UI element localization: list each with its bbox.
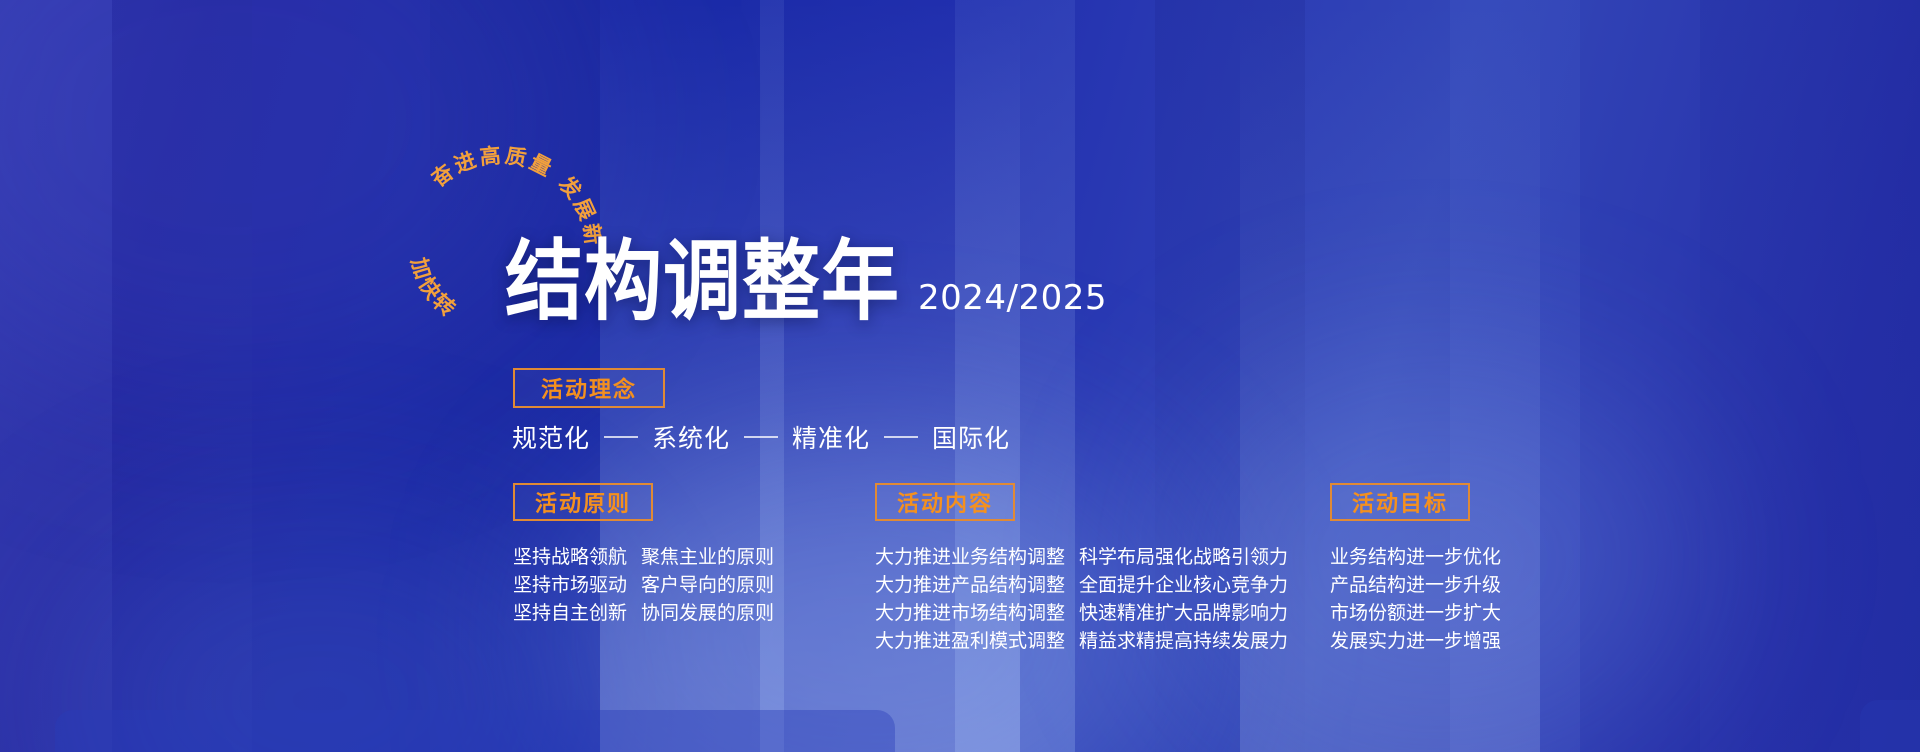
concept-keyword-list: 规范化 系统化 精准化 国际化	[512, 419, 1010, 455]
line-segment-b: 客户导向的原则	[641, 571, 774, 599]
concept-keyword: 国际化	[932, 419, 1010, 455]
banner-content: 奋进高质量 发展新征程 加快转型 增动能 结构调整年 2024/2025 活动理…	[0, 0, 1920, 752]
line-segment-b: 科学布局强化战略引领力	[1079, 543, 1288, 571]
line-segment-a: 市场份额进一步扩大	[1330, 599, 1501, 627]
concept-keyword: 系统化	[652, 419, 730, 455]
list-item: 市场份额进一步扩大	[1330, 599, 1501, 627]
list-item: 大力推进盈利模式调整 精益求精提高持续发展力	[875, 627, 1288, 655]
column-activity-principles: 活动原则 坚持战略领航 聚焦主业的原则 坚持市场驱动 客户导向的原则 坚持自主创…	[513, 483, 774, 627]
concept-separator-dash	[884, 436, 918, 438]
list-item: 坚持自主创新 协同发展的原则	[513, 599, 774, 627]
list-item: 业务结构进一步优化	[1330, 543, 1501, 571]
principles-line-list: 坚持战略领航 聚焦主业的原则 坚持市场驱动 客户导向的原则 坚持自主创新 协同发…	[513, 543, 774, 627]
line-segment-a: 坚持市场驱动	[513, 571, 627, 599]
line-segment-a: 坚持自主创新	[513, 599, 627, 627]
seal-text-bottom: 加快转型 增动能	[388, 123, 462, 323]
list-item: 发展实力进一步增强	[1330, 627, 1501, 655]
list-item: 大力推进业务结构调整 科学布局强化战略引领力	[875, 543, 1288, 571]
badge-activity-principles[interactable]: 活动原则	[513, 483, 653, 521]
list-item: 坚持市场驱动 客户导向的原则	[513, 571, 774, 599]
concept-keyword: 规范化	[512, 419, 590, 455]
badge-activity-content[interactable]: 活动内容	[875, 483, 1015, 521]
concept-separator-dash	[604, 436, 638, 438]
seal-text-top-path: 奋进高质量 发展新征程	[388, 123, 606, 249]
concept-separator-dash	[744, 436, 778, 438]
line-segment-a: 大力推进产品结构调整	[875, 571, 1065, 599]
line-segment-a: 大力推进市场结构调整	[875, 599, 1065, 627]
line-segment-a: 大力推进业务结构调整	[875, 543, 1065, 571]
content-line-list: 大力推进业务结构调整 科学布局强化战略引领力 大力推进产品结构调整 全面提升企业…	[875, 543, 1288, 655]
title-row: 结构调整年 2024/2025	[505, 248, 1107, 326]
line-segment-b: 全面提升企业核心竞争力	[1079, 571, 1288, 599]
line-segment-a: 产品结构进一步升级	[1330, 571, 1501, 599]
concept-keyword: 精准化	[792, 419, 870, 455]
banner-root: 奋进高质量 发展新征程 加快转型 增动能 结构调整年 2024/2025 活动理…	[0, 0, 1920, 752]
title-year-range: 2024/2025	[918, 278, 1107, 318]
column-activity-content: 活动内容 大力推进业务结构调整 科学布局强化战略引领力 大力推进产品结构调整 全…	[875, 483, 1288, 655]
column-activity-goals: 活动目标 业务结构进一步优化 产品结构进一步升级 市场份额进一步扩大 发展实力进…	[1330, 483, 1501, 655]
badge-activity-goals[interactable]: 活动目标	[1330, 483, 1470, 521]
line-segment-b: 快速精准扩大品牌影响力	[1079, 599, 1288, 627]
line-segment-a: 坚持战略领航	[513, 543, 627, 571]
line-segment-a: 大力推进盈利模式调整	[875, 627, 1065, 655]
list-item: 坚持战略领航 聚焦主业的原则	[513, 543, 774, 571]
seal-text-bottom-path: 加快转型 增动能	[388, 123, 462, 323]
line-segment-a: 业务结构进一步优化	[1330, 543, 1501, 571]
line-segment-b: 协同发展的原则	[641, 599, 774, 627]
list-item: 大力推进产品结构调整 全面提升企业核心竞争力	[875, 571, 1288, 599]
line-segment-a: 发展实力进一步增强	[1330, 627, 1501, 655]
list-item: 产品结构进一步升级	[1330, 571, 1501, 599]
page-title: 结构调整年	[505, 239, 900, 326]
badge-activity-concept[interactable]: 活动理念	[513, 368, 665, 408]
line-segment-b: 精益求精提高持续发展力	[1079, 627, 1288, 655]
goals-line-list: 业务结构进一步优化 产品结构进一步升级 市场份额进一步扩大 发展实力进一步增强	[1330, 543, 1501, 655]
line-segment-b: 聚焦主业的原则	[641, 543, 774, 571]
seal-text-top: 奋进高质量 发展新征程	[388, 123, 606, 249]
list-item: 大力推进市场结构调整 快速精准扩大品牌影响力	[875, 599, 1288, 627]
